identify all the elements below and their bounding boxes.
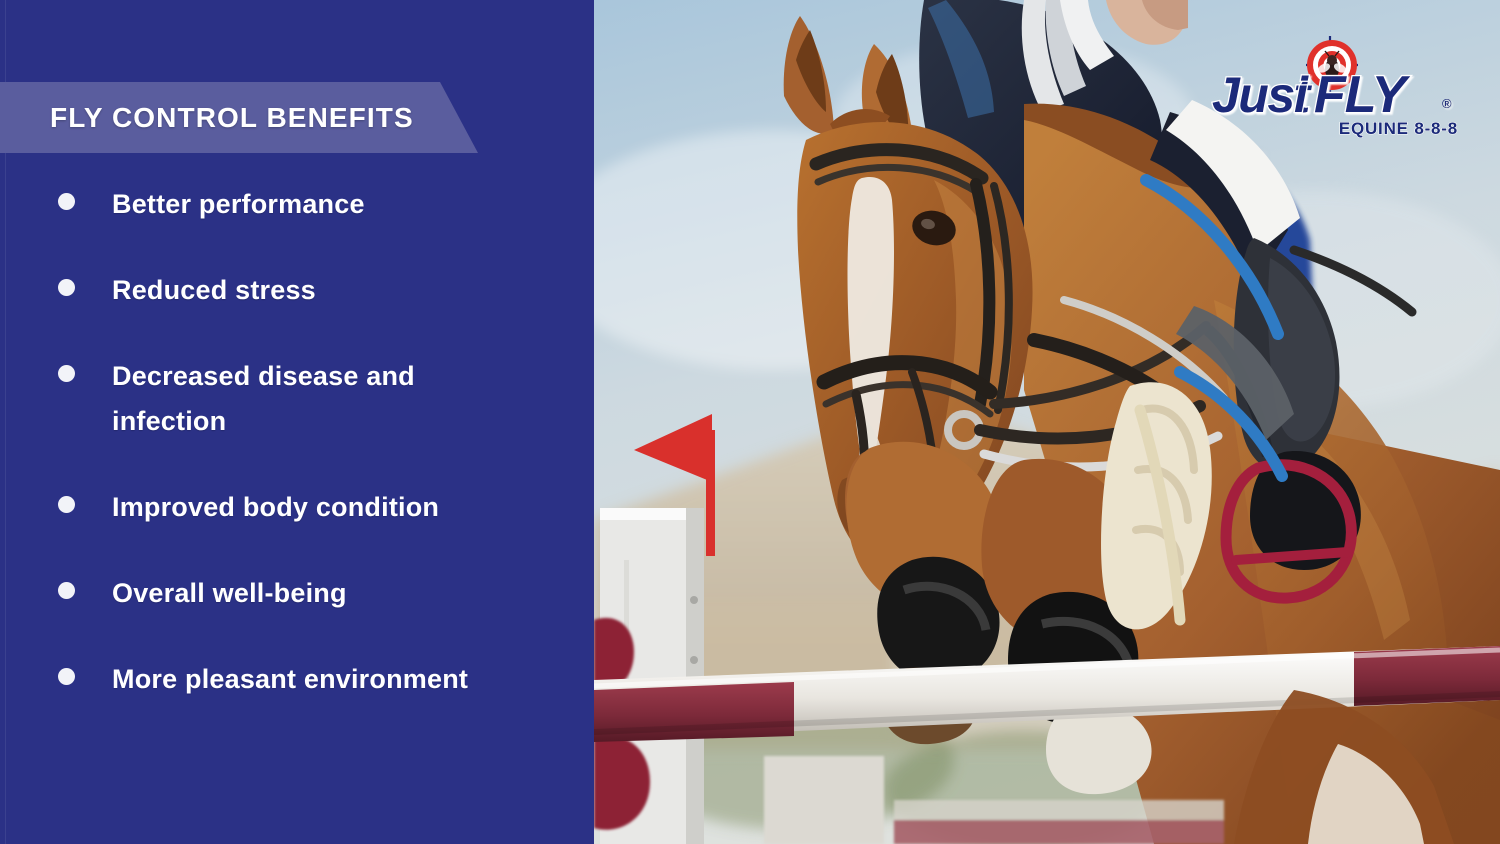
benefit-label: Decreased disease and infection bbox=[112, 354, 532, 444]
benefit-label: Overall well-being bbox=[112, 571, 347, 616]
benefits-list: Better performance Reduced stress Decrea… bbox=[0, 182, 594, 743]
bullet-dot-icon bbox=[58, 365, 75, 382]
page-title: FLY CONTROL BENEFITS bbox=[0, 102, 414, 134]
justifly-equine-logo: Just i FLY ® EQUINE 8-8-8 bbox=[1210, 36, 1462, 141]
bullet-dot-icon bbox=[58, 668, 75, 685]
logo-brand-fly: FLY bbox=[1314, 66, 1411, 124]
benefit-label: Reduced stress bbox=[112, 268, 316, 313]
logo-tagline: EQUINE 8-8-8 bbox=[1339, 119, 1458, 138]
slide-root: FLY CONTROL BENEFITS Better performance … bbox=[0, 0, 1500, 844]
list-item: Reduced stress bbox=[0, 268, 594, 313]
list-item: Improved body condition bbox=[0, 485, 594, 530]
logo-brand-i: i bbox=[1294, 67, 1309, 123]
benefit-label: More pleasant environment bbox=[112, 657, 468, 702]
brand-logo: Just i FLY ® EQUINE 8-8-8 bbox=[1210, 36, 1462, 141]
benefit-label: Improved body condition bbox=[112, 485, 439, 530]
section-banner: FLY CONTROL BENEFITS bbox=[0, 82, 478, 153]
bullet-dot-icon bbox=[58, 193, 75, 210]
list-item: Decreased disease and infection bbox=[0, 354, 594, 444]
logo-registered-mark: ® bbox=[1442, 96, 1452, 111]
benefit-label: Better performance bbox=[112, 182, 365, 227]
list-item: More pleasant environment bbox=[0, 657, 594, 702]
list-item: Better performance bbox=[0, 182, 594, 227]
bullet-dot-icon bbox=[58, 279, 75, 296]
bullet-dot-icon bbox=[58, 496, 75, 513]
bullet-dot-icon bbox=[58, 582, 75, 599]
left-content-panel: FLY CONTROL BENEFITS Better performance … bbox=[0, 0, 594, 844]
list-item: Overall well-being bbox=[0, 571, 594, 616]
